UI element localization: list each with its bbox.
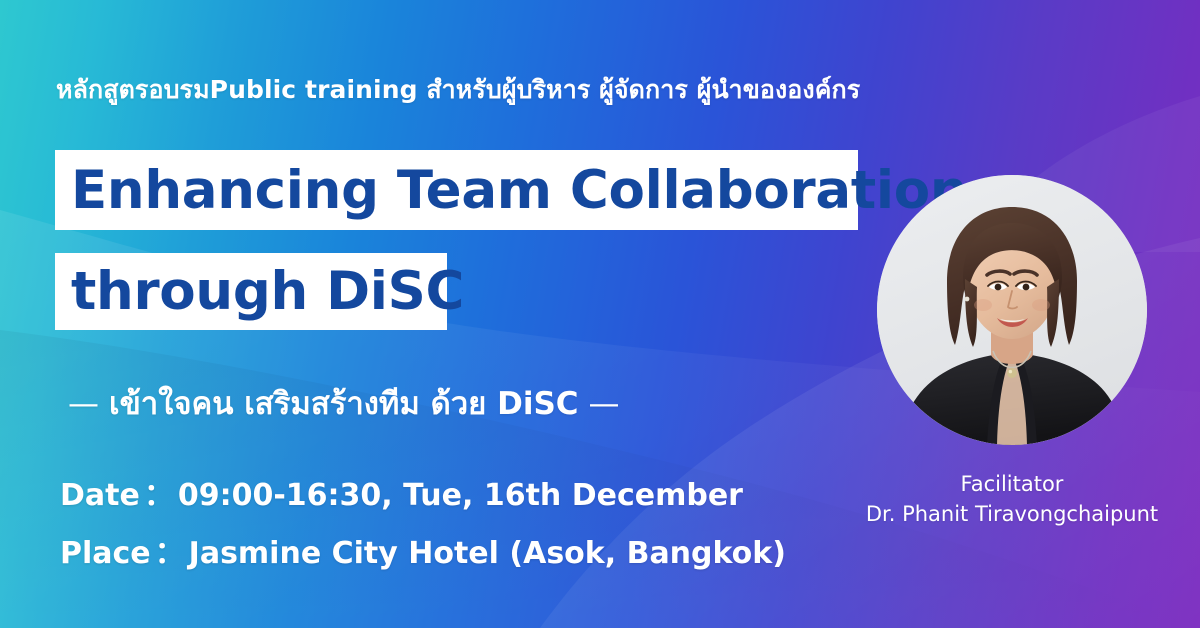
facilitator-caption: Facilitator Dr. Phanit Tiravongchaipunt bbox=[862, 470, 1162, 530]
facilitator-name: Dr. Phanit Tiravongchaipunt bbox=[862, 500, 1162, 530]
title-box-line-1: Enhancing Team Collaboration bbox=[55, 150, 858, 230]
detail-value-place: Jasmine City Hotel (Asok, Bangkok) bbox=[189, 536, 786, 571]
subtitle-text: เข้าใจคน เสริมสร้างทีม ด้วย DiSC bbox=[109, 386, 579, 422]
detail-label-date: Date bbox=[60, 478, 140, 513]
banner-content: หลักสูตรอบรมPublic training สำหรับผู้บริ… bbox=[0, 0, 880, 628]
em-dash-right-icon: — bbox=[579, 386, 630, 422]
detail-separator-place: ： bbox=[151, 536, 189, 571]
kicker-text: หลักสูตรอบรมPublic training สำหรับผู้บริ… bbox=[56, 70, 860, 110]
facilitator-role-label: Facilitator bbox=[961, 472, 1064, 496]
detail-row-place: Place：Jasmine City Hotel (Asok, Bangkok) bbox=[60, 528, 786, 572]
portrait-photo bbox=[877, 175, 1147, 445]
em-dash-left-icon: — bbox=[58, 386, 109, 422]
subtitle: —เข้าใจคน เสริมสร้างทีม ด้วย DiSC— bbox=[58, 378, 630, 428]
detail-row-date: Date：09:00-16:30, Tue, 16th December bbox=[60, 470, 743, 514]
detail-value-date: 09:00-16:30, Tue, 16th December bbox=[178, 478, 743, 513]
facilitator-avatar bbox=[877, 175, 1147, 445]
page-title-line-2: through DiSC bbox=[71, 265, 464, 318]
page-title-line-1: Enhancing Team Collaboration bbox=[71, 164, 967, 217]
detail-separator-date: ： bbox=[140, 478, 178, 513]
event-banner: หลักสูตรอบรมPublic training สำหรับผู้บริ… bbox=[0, 0, 1200, 628]
detail-label-place: Place bbox=[60, 536, 151, 571]
title-box-line-2: through DiSC bbox=[55, 253, 447, 330]
